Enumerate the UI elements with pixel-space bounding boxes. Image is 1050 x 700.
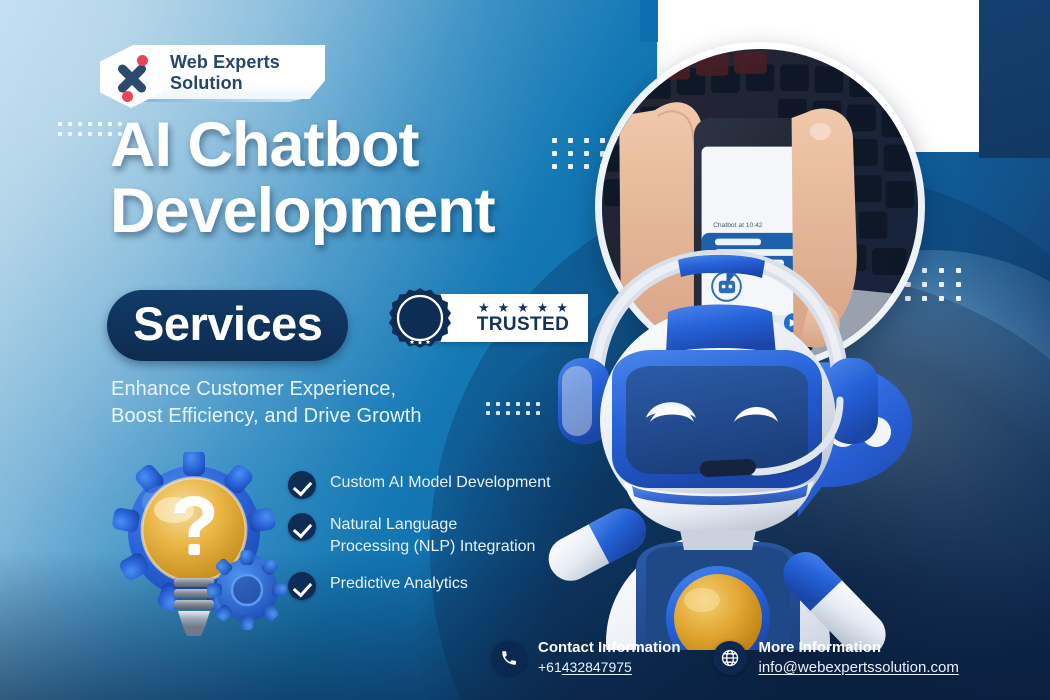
headline-line1: AI Chatbot — [110, 110, 418, 180]
feature-label: Predictive Analytics — [330, 571, 468, 595]
page-title: AI Chatbot Development — [110, 112, 580, 244]
feature-label: Custom AI Model Development — [330, 470, 551, 494]
chatbot-robot-mascot-icon — [540, 250, 940, 650]
feature-label: Natural Language Processing (NLP) Integr… — [330, 512, 535, 558]
dot — [98, 132, 102, 136]
star-icon: ★ — [478, 301, 490, 314]
thumbs-up-seal-icon — [388, 286, 452, 354]
dot — [584, 138, 589, 143]
subtitle-line1: Enhance Customer Experience, — [111, 378, 396, 400]
contact-title: Contact Information — [538, 639, 681, 656]
dot — [526, 402, 530, 406]
dot — [956, 268, 961, 273]
brand-name-line2: Solution — [170, 73, 243, 93]
brand-name-line1: Web Experts — [170, 52, 280, 72]
lightbulb-gear-question-icon — [108, 452, 288, 640]
more-information-group: More Information info@webexpertssolution… — [713, 639, 959, 678]
dot — [956, 282, 961, 287]
dot — [68, 132, 72, 136]
star-icon: ★ — [498, 301, 510, 314]
navy-band — [979, 0, 1050, 158]
subtitle-line2: Boost Efficiency, and Drive Growth — [111, 405, 422, 427]
svg-text:Chatbot at 10:42: Chatbot at 10:42 — [713, 222, 763, 229]
dot — [78, 132, 82, 136]
globe-icon — [713, 641, 747, 675]
dot — [58, 132, 62, 136]
dot — [58, 122, 62, 126]
more-text: More Information info@webexpertssolution… — [759, 639, 959, 678]
feature-label-line2: Processing (NLP) Integration — [330, 538, 535, 555]
check-circle-icon — [288, 471, 316, 499]
brand-logo[interactable]: Web Experts Solution — [100, 45, 325, 103]
dot — [516, 402, 520, 406]
dot — [516, 411, 520, 415]
dot — [584, 151, 589, 156]
blue-band — [640, 0, 658, 42]
dot — [956, 296, 961, 301]
email-link[interactable]: info@webexpertssolution.com — [759, 659, 959, 676]
dot — [526, 411, 530, 415]
dot — [88, 132, 92, 136]
hero-subtitle: Enhance Customer Experience, Boost Effic… — [111, 376, 511, 430]
dot — [78, 122, 82, 126]
contact-text: Contact Information +61432847975 — [538, 639, 681, 678]
check-circle-icon — [288, 513, 316, 541]
star-icon: ★ — [517, 301, 529, 314]
more-title: More Information — [759, 639, 959, 656]
dot — [98, 122, 102, 126]
feature-label-line1: Natural Language — [330, 516, 457, 533]
logo-plate-underline — [142, 99, 302, 102]
phone-link[interactable]: 432847975 — [562, 659, 632, 675]
phone-number[interactable]: +61432847975 — [538, 659, 632, 675]
brand-name: Web Experts Solution — [170, 52, 280, 94]
dot — [584, 164, 589, 169]
services-badge: Services — [107, 290, 348, 361]
contact-information-group: Contact Information +61432847975 — [492, 639, 681, 678]
dot — [68, 122, 72, 126]
logo-dot-top-icon — [137, 55, 148, 66]
phone-prefix: +61 — [538, 659, 562, 675]
banner-stage: Chatbot at 10:42 — [0, 0, 1050, 700]
footer-contact-bar: Contact Information +61432847975 More In… — [492, 634, 959, 682]
logo-dot-bottom-icon — [122, 91, 133, 102]
check-circle-icon — [288, 572, 316, 600]
phone-icon — [492, 641, 526, 675]
headline-line2: Development — [110, 178, 580, 244]
dot — [88, 122, 92, 126]
